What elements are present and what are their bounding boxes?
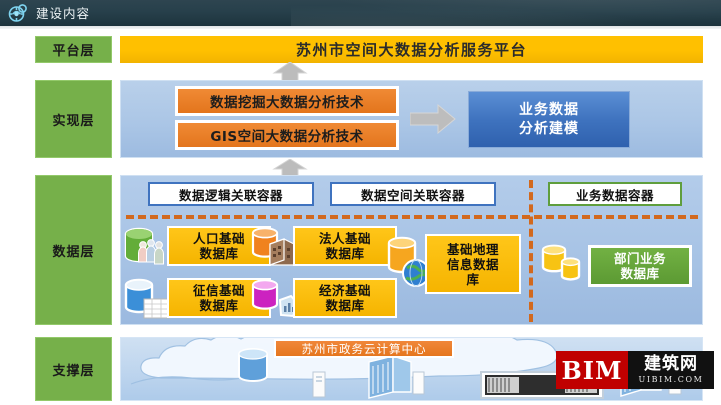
page-title: 建设内容	[36, 3, 90, 22]
db-credit-line1: 征信基础	[193, 283, 245, 298]
modeling-box-line2: 分析建模	[519, 120, 579, 139]
header-divider	[0, 26, 721, 29]
storage-cylinder-icon	[239, 349, 267, 381]
watermark-brand: BIM	[556, 351, 628, 389]
modeling-box: 业务数据 分析建模	[468, 91, 630, 148]
modeling-box-line1: 业务数据	[519, 101, 579, 120]
dashed-divider-horizontal	[126, 215, 698, 219]
container-box-logic: 数据逻辑关联容器	[148, 182, 314, 206]
watermark-logo: BIM 建筑网 UIBIM.COM	[556, 351, 714, 389]
container-box-business: 业务数据容器	[548, 182, 682, 206]
arrow-right-icon	[410, 104, 456, 134]
container-box-spatial: 数据空间关联容器	[330, 182, 496, 206]
tech-box-data-mining: 数据挖掘大数据分析技术	[175, 86, 399, 116]
db-legal-line2: 数据库	[319, 246, 371, 261]
slide-root: 建设内容 平台层 苏州市空间大数据分析服务平台 实现层 数据挖掘大数据分析技术 …	[0, 0, 721, 405]
database-box-geographic: 基础地理 信息数据 库	[425, 234, 521, 294]
platform-banner: 苏州市空间大数据分析服务平台	[120, 36, 703, 63]
gear-logo-icon	[6, 2, 30, 25]
db-business-line2: 数据库	[614, 266, 666, 281]
watermark-url: UIBIM.COM	[639, 375, 704, 384]
database-cylinder-yellow-icon	[540, 242, 592, 296]
dashed-divider-vertical	[529, 180, 533, 322]
arrow-up-icon	[272, 62, 308, 82]
database-box-department-business: 部门业务 数据库	[588, 245, 692, 287]
db-geo-line2: 信息数据	[447, 257, 499, 272]
db-geo-line3: 库	[447, 272, 499, 287]
db-geo-line1: 基础地理	[447, 242, 499, 257]
watermark-cn-block: 建筑网 UIBIM.COM	[628, 351, 714, 389]
database-cylinder-building-icon	[250, 224, 298, 274]
layer-label-data: 数据层	[35, 175, 112, 325]
db-economy-line2: 数据库	[319, 298, 371, 313]
db-credit-line2: 数据库	[193, 298, 245, 313]
computer-icon	[313, 372, 325, 397]
db-legal-line1: 法人基础	[319, 231, 371, 246]
db-population-line1: 人口基础	[193, 231, 245, 246]
db-population-line2: 数据库	[193, 246, 245, 261]
database-box-economy: 经济基础 数据库	[293, 278, 397, 318]
watermark-cn: 建筑网	[644, 356, 698, 373]
layer-label-implementation: 实现层	[35, 80, 112, 158]
db-business-line1: 部门业务	[614, 251, 666, 266]
layer-label-support: 支撑层	[35, 337, 112, 401]
cloud-center-banner: 苏州市政务云计算中心	[274, 339, 454, 358]
layer-label-platform: 平台层	[35, 36, 112, 63]
db-economy-line1: 经济基础	[319, 283, 371, 298]
slide-header: 建设内容	[0, 0, 721, 26]
tech-box-gis: GIS空间大数据分析技术	[175, 120, 399, 150]
database-box-legal-person: 法人基础 数据库	[293, 226, 397, 266]
